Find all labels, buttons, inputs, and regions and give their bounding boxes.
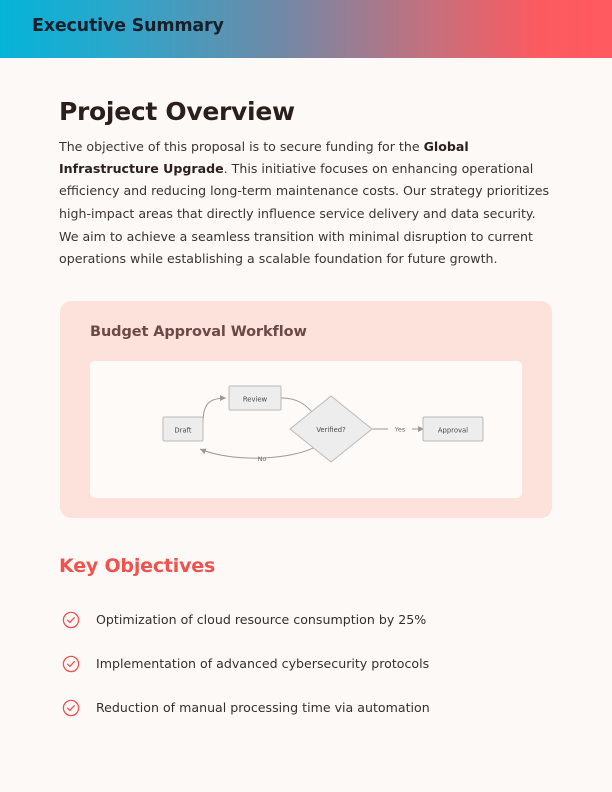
objective-label: Implementation of advanced cybersecurity… <box>96 655 429 673</box>
objective-label: Optimization of cloud resource consumpti… <box>96 611 426 629</box>
header-banner: Executive Summary <box>0 0 612 58</box>
list-item: Reduction of manual processing time via … <box>62 686 542 730</box>
flowchart-node-draft-label: Draft <box>174 427 191 435</box>
section-heading-key-objectives: Key Objectives <box>59 555 215 577</box>
section-heading-project-overview: Project Overview <box>59 98 559 127</box>
flowchart-node-review: Review <box>229 386 281 410</box>
check-circle-icon <box>62 611 80 629</box>
flowchart-node-verified-label: Verified? <box>316 426 346 434</box>
flowchart-node-approval-label: Approval <box>438 427 468 435</box>
flowchart-node-review-label: Review <box>243 396 268 404</box>
edge-label-yes: Yes <box>394 426 406 434</box>
main-content: Project Overview The objective of this p… <box>59 58 559 270</box>
list-item: Optimization of cloud resource consumpti… <box>62 598 542 642</box>
page-title: Executive Summary <box>32 16 224 36</box>
flowchart-node-approval: Approval <box>423 417 483 441</box>
flowchart-node-draft: Draft <box>163 417 203 441</box>
check-circle-icon <box>62 699 80 717</box>
list-item: Implementation of advanced cybersecurity… <box>62 642 542 686</box>
objective-label: Reduction of manual processing time via … <box>96 699 430 717</box>
edge-label-no: No <box>258 455 267 463</box>
workflow-card: Budget Approval Workflow Draft <box>60 301 552 518</box>
workflow-diagram-panel: Draft Review Verified? Approval Yes No <box>90 361 522 498</box>
objectives-list: Optimization of cloud resource consumpti… <box>62 598 542 730</box>
check-circle-icon <box>62 655 80 673</box>
overview-paragraph-1-text-before: The objective of this proposal is to sec… <box>59 139 424 154</box>
edge-draft-to-review <box>203 398 226 423</box>
workflow-card-title: Budget Approval Workflow <box>90 324 307 340</box>
overview-paragraph-1: The objective of this proposal is to sec… <box>59 136 551 225</box>
workflow-flowchart: Draft Review Verified? Approval Yes No <box>90 361 522 498</box>
overview-paragraph-2: We aim to achieve a seamless transition … <box>59 226 551 271</box>
